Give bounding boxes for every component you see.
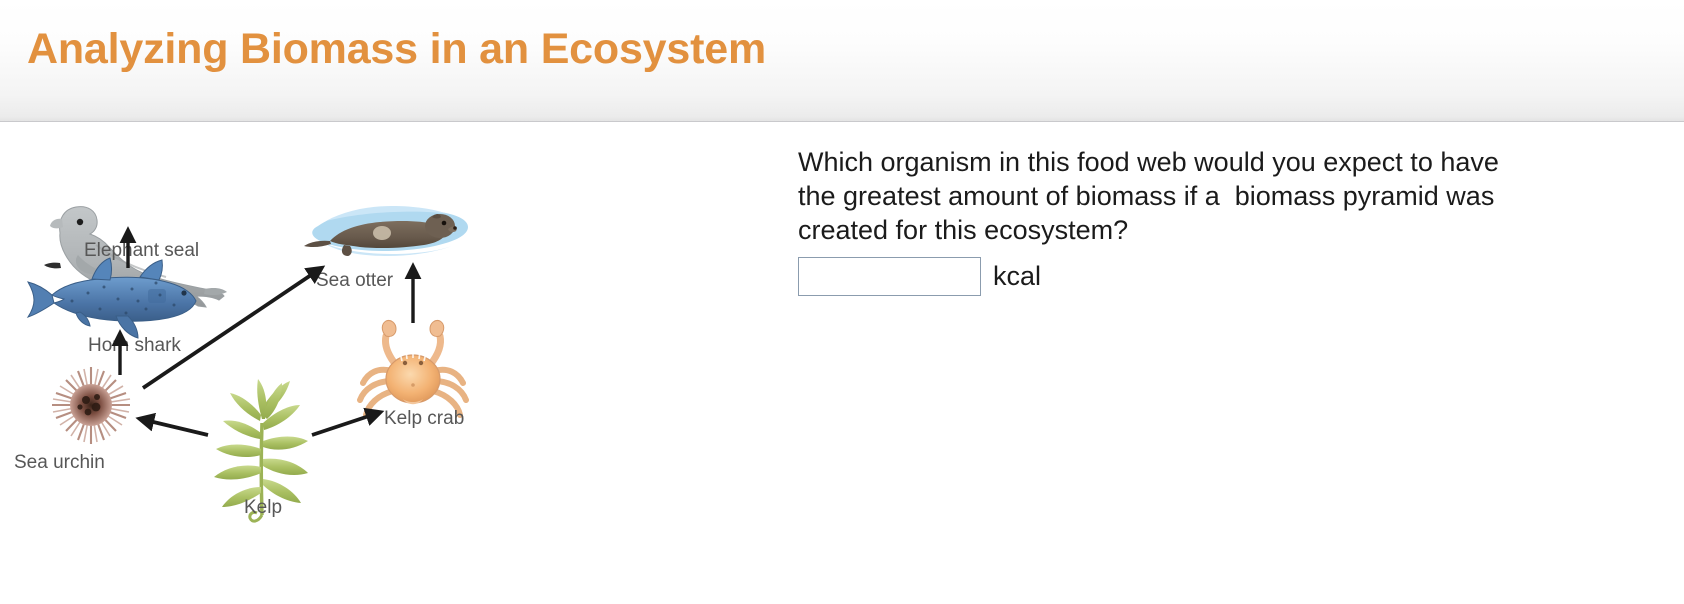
organism-sea-otter [304, 206, 468, 256]
question-panel: Which organism in this food web would yo… [798, 123, 1668, 296]
organism-label-kelp: Kelp [244, 497, 282, 518]
food-web-panel: Elephant seal [0, 123, 790, 604]
organism-label-horn-shark: Horn shark [88, 335, 181, 356]
arrow-kelp-to-kelp-crab [312, 414, 375, 435]
answer-unit-label: kcal [993, 261, 1041, 292]
organism-label-sea-otter: Sea otter [316, 270, 394, 291]
question-prompt: Which organism in this food web would yo… [798, 145, 1516, 247]
organism-sea-urchin [52, 367, 130, 444]
main-content: Elephant seal [0, 123, 1684, 604]
page-title: Analyzing Biomass in an Ecosystem [27, 25, 766, 74]
organism-label-elephant-seal: Elephant seal [84, 240, 199, 261]
food-web-diagram: Elephant seal [0, 123, 790, 604]
answer-input[interactable] [798, 257, 981, 296]
arrow-kelp-to-sea-urchin [145, 420, 208, 435]
organism-label-sea-urchin: Sea urchin [14, 452, 105, 473]
organism-kelp-crab [360, 320, 466, 415]
organism-horn-shark [28, 258, 196, 338]
page-header: Analyzing Biomass in an Ecosystem [0, 0, 1684, 122]
answer-row: kcal [798, 257, 1668, 296]
organism-label-kelp-crab: Kelp crab [384, 408, 464, 429]
